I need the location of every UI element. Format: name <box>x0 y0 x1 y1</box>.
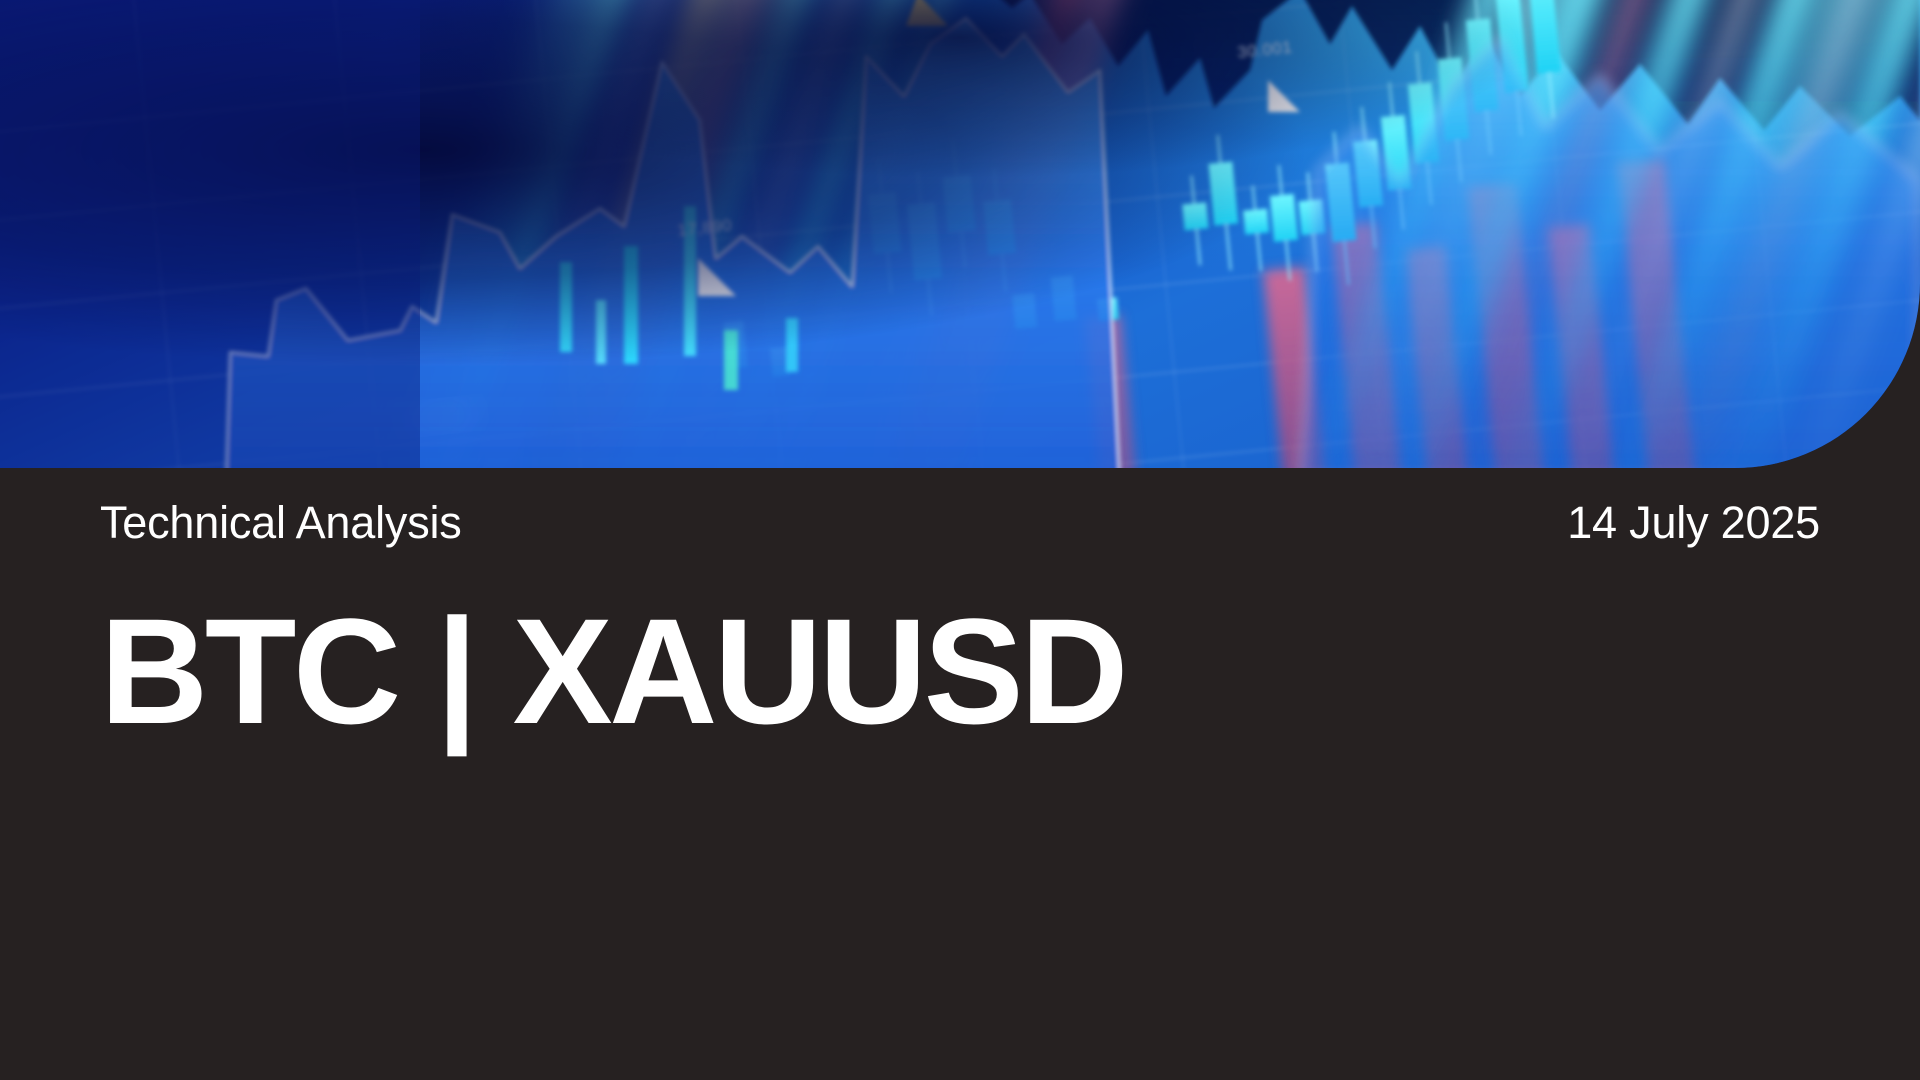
slide-root: 17,890 30.001 12.799 Technical Analysis … <box>0 0 1920 1080</box>
eyebrow-label: Technical Analysis <box>100 500 462 545</box>
content-panel: Technical Analysis 14 July 2025 BTC | XA… <box>0 468 1920 1080</box>
page-title: BTC | XAUUSD <box>100 596 1820 746</box>
date-label: 14 July 2025 <box>1567 500 1820 545</box>
hero-banner-image: 17,890 30.001 12.799 <box>0 0 1920 468</box>
meta-row: Technical Analysis 14 July 2025 <box>100 468 1820 576</box>
hero-left-blur-veil <box>0 0 420 468</box>
